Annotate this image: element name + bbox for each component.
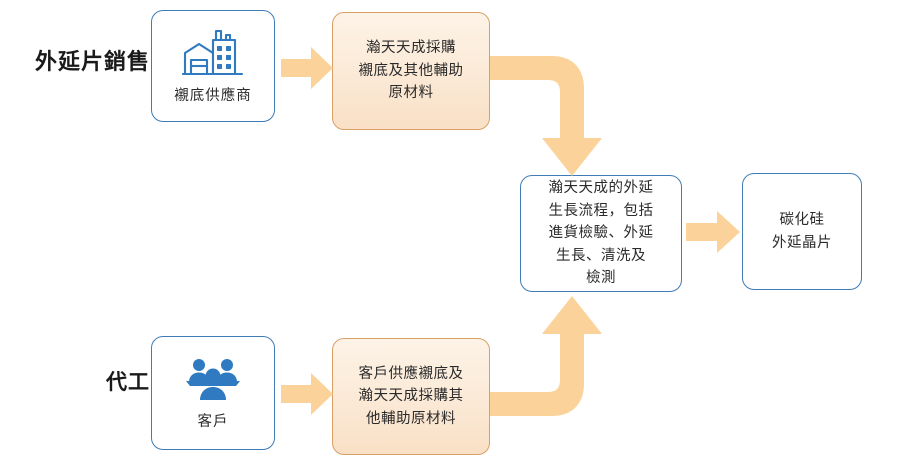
node-sic-wafer[interactable]: 碳化硅 外延晶片 [742, 173, 862, 290]
node-customer-supply[interactable]: 客戶供應襯底及 瀚天天成採購其 他輔助原材料 [332, 338, 490, 455]
arrow-elbow-down-icon-purchase-to-process [488, 52, 628, 182]
node-text-sic-wafer: 碳化硅 外延晶片 [762, 209, 842, 254]
factory-icon [182, 28, 244, 78]
node-hantian-purchase[interactable]: 瀚天天成採購 襯底及其他輔助 原材料 [332, 12, 490, 130]
node-text-epitaxy-process: 瀚天天成的外延 生長流程，包括 進貨檢驗、外延 生長、清洗及 檢測 [539, 177, 664, 289]
arrow-right-icon-supplier-to-purchase [279, 44, 335, 92]
row-label-foundry: 代工 [0, 372, 150, 393]
node-caption-substrate-supplier: 襯底供應商 [174, 84, 252, 105]
people-group-icon [182, 356, 244, 404]
diagram-canvas: 外延片銷售 代工 [0, 0, 900, 462]
row-label-epiwafer-sales: 外延片銷售 [0, 52, 150, 74]
node-text-customer-supply: 客戶供應襯底及 瀚天天成採購其 他輔助原材料 [349, 363, 474, 430]
node-epitaxy-process[interactable]: 瀚天天成的外延 生長流程，包括 進貨檢驗、外延 生長、清洗及 檢測 [520, 175, 682, 292]
node-text-hantian-purchase: 瀚天天成採購 襯底及其他輔助 原材料 [349, 37, 474, 104]
arrow-right-icon-process-to-wafer [684, 208, 742, 256]
node-substrate-supplier[interactable]: 襯底供應商 [151, 10, 275, 122]
node-caption-customer: 客戶 [198, 410, 229, 431]
arrow-right-icon-customer-to-supply [279, 370, 335, 418]
arrow-elbow-up-icon-supply-to-process [488, 288, 628, 420]
node-customer[interactable]: 客戶 [151, 336, 275, 450]
